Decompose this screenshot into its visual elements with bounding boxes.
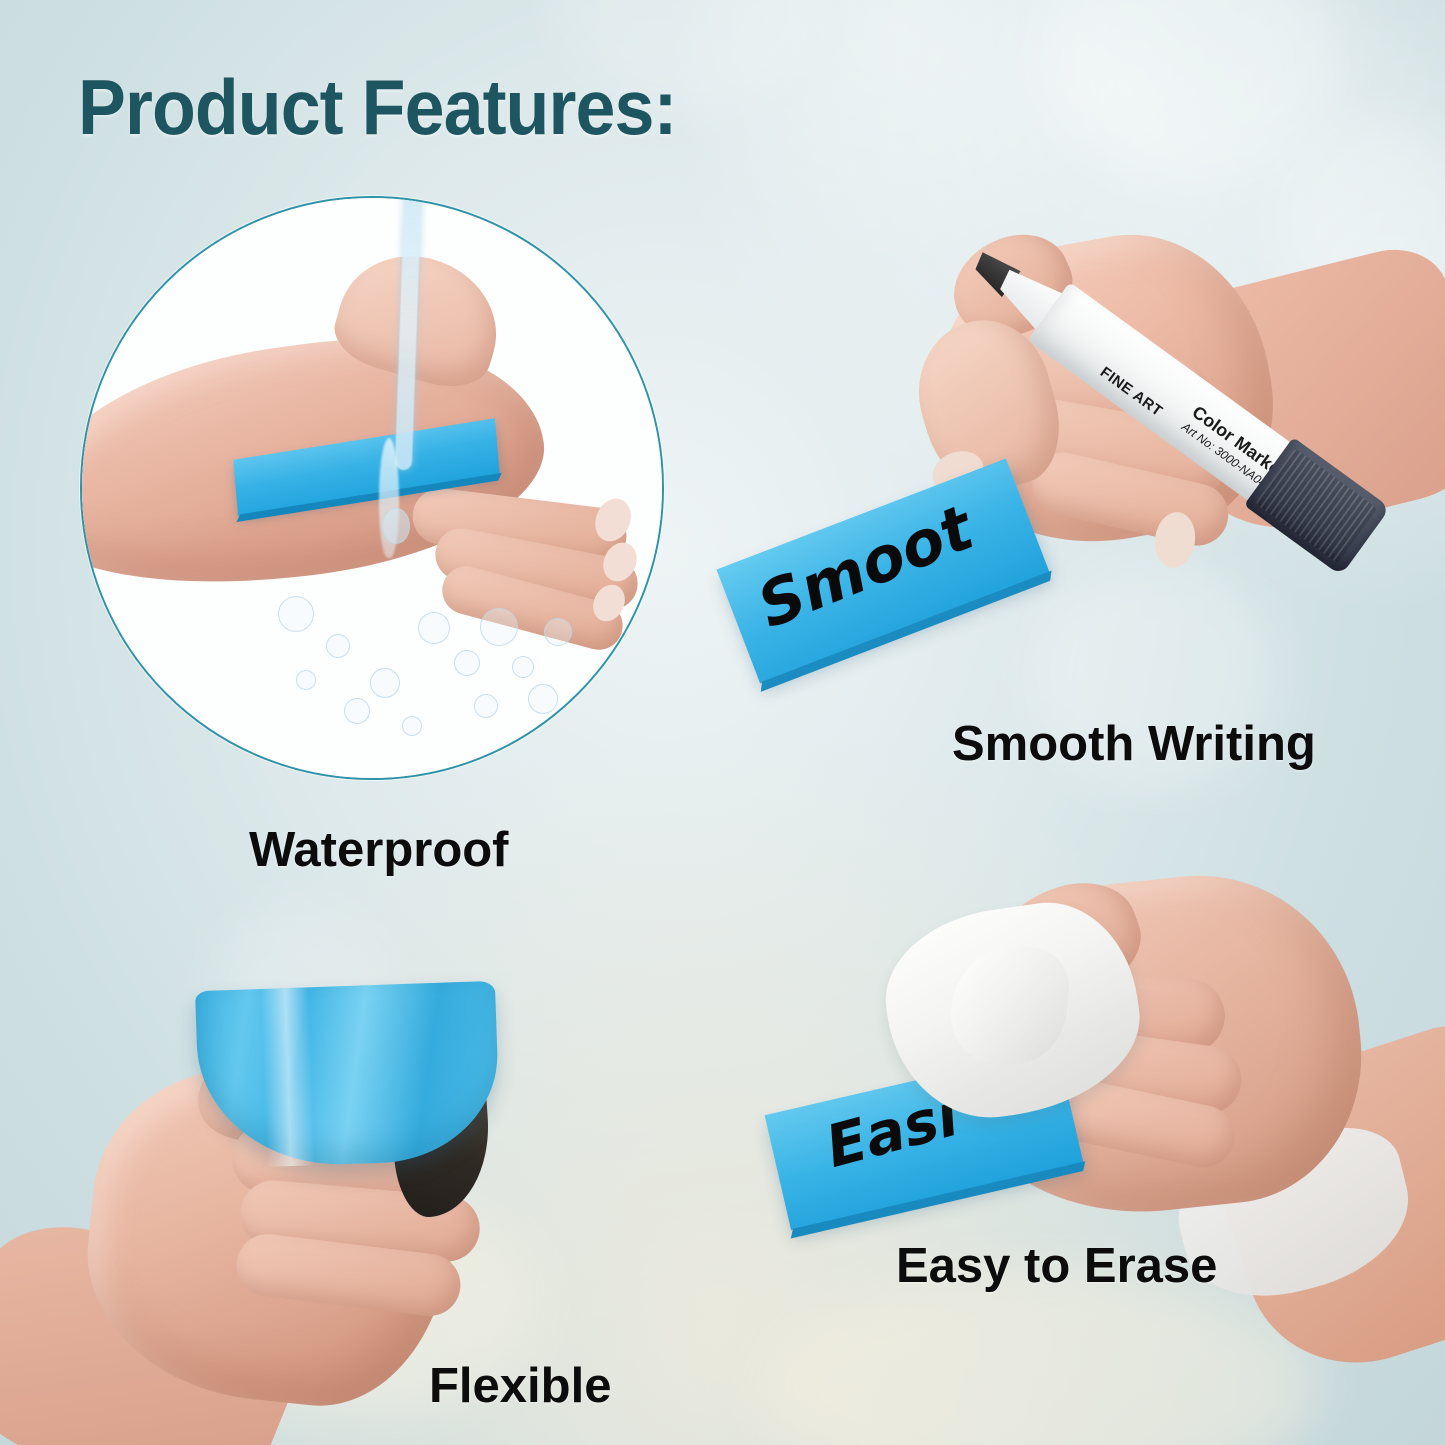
waterproof-scene bbox=[82, 198, 662, 778]
water-bubble bbox=[480, 608, 518, 646]
water-bubble bbox=[326, 634, 350, 658]
water-bubble bbox=[296, 670, 316, 690]
water-bubble bbox=[344, 698, 370, 724]
feature-label-smooth-writing: Smooth Writing bbox=[952, 716, 1316, 772]
water-bubble bbox=[512, 656, 534, 678]
water-bubble bbox=[528, 684, 558, 714]
strip-gloss-highlight bbox=[261, 987, 315, 1167]
water-bubble bbox=[454, 650, 480, 676]
infographic-canvas: Product Features: bbox=[0, 0, 1445, 1445]
water-droplet bbox=[382, 508, 410, 544]
tissue-fold bbox=[946, 940, 1073, 1071]
water-bubble bbox=[418, 612, 450, 644]
water-bubble bbox=[474, 694, 498, 718]
blue-label-strip-smooth: Smoot bbox=[716, 459, 1049, 684]
water-bubble bbox=[402, 716, 422, 736]
water-bubble bbox=[370, 668, 400, 698]
water-bubble bbox=[278, 596, 314, 632]
feature-label-flexible: Flexible bbox=[429, 1358, 611, 1414]
page-title: Product Features: bbox=[78, 62, 676, 153]
feature-label-waterproof: Waterproof bbox=[249, 822, 509, 878]
feature-label-easy-to-erase: Easy to Erase bbox=[896, 1238, 1217, 1294]
waterproof-photo-circle bbox=[80, 196, 664, 780]
water-bubble bbox=[544, 618, 572, 646]
handwritten-text-smooth: Smoot bbox=[748, 491, 983, 643]
